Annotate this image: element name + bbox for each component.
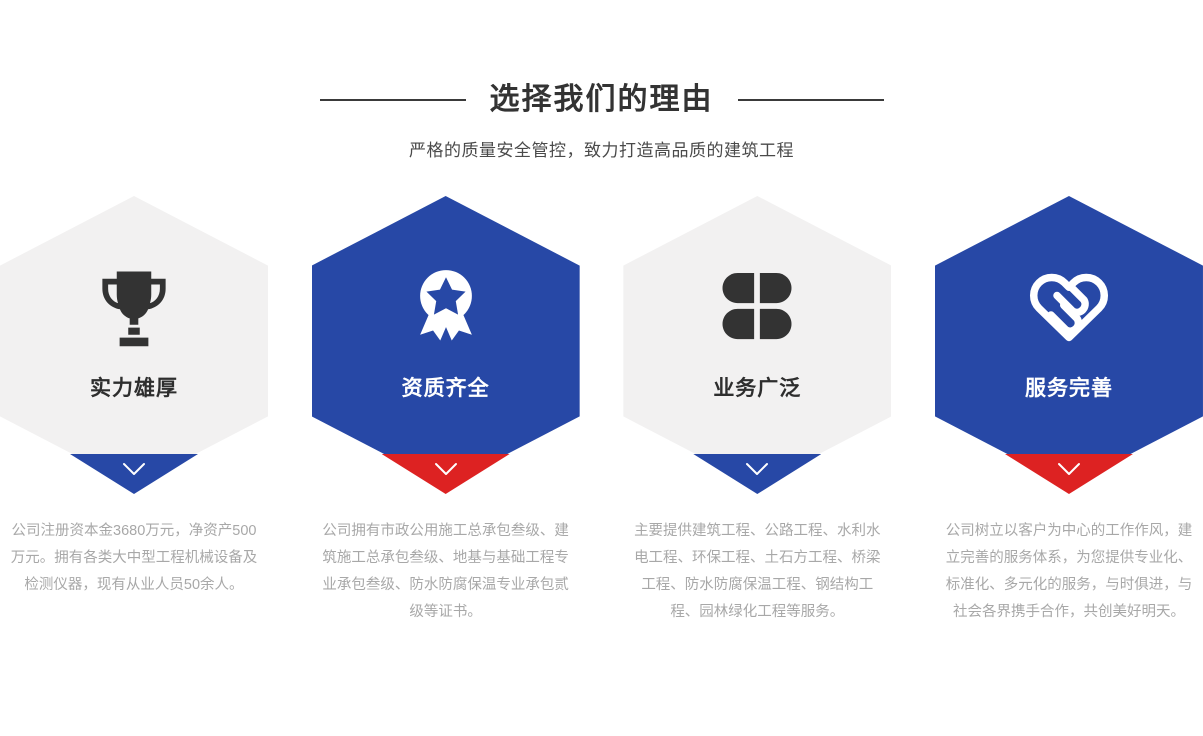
card-arrow-indicator[interactable] [693,454,821,494]
hexagon-wrap: 业务广泛 [623,196,891,486]
feature-card[interactable]: 服务完善 [935,196,1203,486]
card-arrow-indicator[interactable] [382,454,510,494]
feature-card[interactable]: 业务广泛 [623,196,891,486]
hexagon-shape: 资质齐全 [312,196,580,486]
feature-card-label: 实力雄厚 [90,372,178,402]
feature-description: 公司树立以客户为中心的工作作风，建立完善的服务体系，为您提供专业化、标准化、多元… [935,518,1203,626]
hexagon-wrap: 实力雄厚 [0,196,268,486]
hexagon-wrap: 资质齐全 [312,196,580,486]
feature-card-list: 实力雄厚 [0,196,1203,486]
page-subtitle: 严格的质量安全管控，致力打造高品质的建筑工程 [0,136,1203,161]
hexagon-shape: 业务广泛 [623,196,891,486]
card-arrow-indicator[interactable] [70,454,198,494]
feature-card[interactable]: 资质齐全 [312,196,580,486]
card-arrow-indicator[interactable] [1005,454,1133,494]
feature-card-label: 业务广泛 [713,372,801,402]
title-rule-left-icon [320,99,466,101]
hexagon-shape: 服务完善 [935,196,1203,486]
feature-card[interactable]: 实力雄厚 [0,196,268,486]
title-rule-right-icon [738,99,884,101]
clover-icon [705,254,809,358]
feature-card-label: 服务完善 [1025,372,1113,402]
feature-description: 公司拥有市政公用施工总承包叁级、建筑施工总承包叁级、地基与基础工程专业承包叁级、… [312,518,580,626]
hexagon-wrap: 服务完善 [935,196,1203,486]
feature-description-list: 公司注册资本金3680万元，净资产500万元。拥有各类大中型工程机械设备及检测仪… [0,518,1203,626]
feature-description: 公司注册资本金3680万元，净资产500万元。拥有各类大中型工程机械设备及检测仪… [0,518,268,626]
section-header: 选择我们的理由 严格的质量安全管控，致力打造高品质的建筑工程 [0,80,1203,161]
features-section: 选择我们的理由 严格的质量安全管控，致力打造高品质的建筑工程 实力雄厚 [0,0,1203,736]
heart-handshake-icon [1017,254,1121,358]
trophy-icon [82,254,186,358]
feature-card-label: 资质齐全 [402,372,490,402]
hexagon-shape: 实力雄厚 [0,196,268,486]
medal-star-icon [394,254,498,358]
page-title: 选择我们的理由 [490,80,714,120]
feature-description: 主要提供建筑工程、公路工程、水利水电工程、环保工程、土石方工程、桥梁工程、防水防… [623,518,891,626]
title-row: 选择我们的理由 [0,80,1203,120]
